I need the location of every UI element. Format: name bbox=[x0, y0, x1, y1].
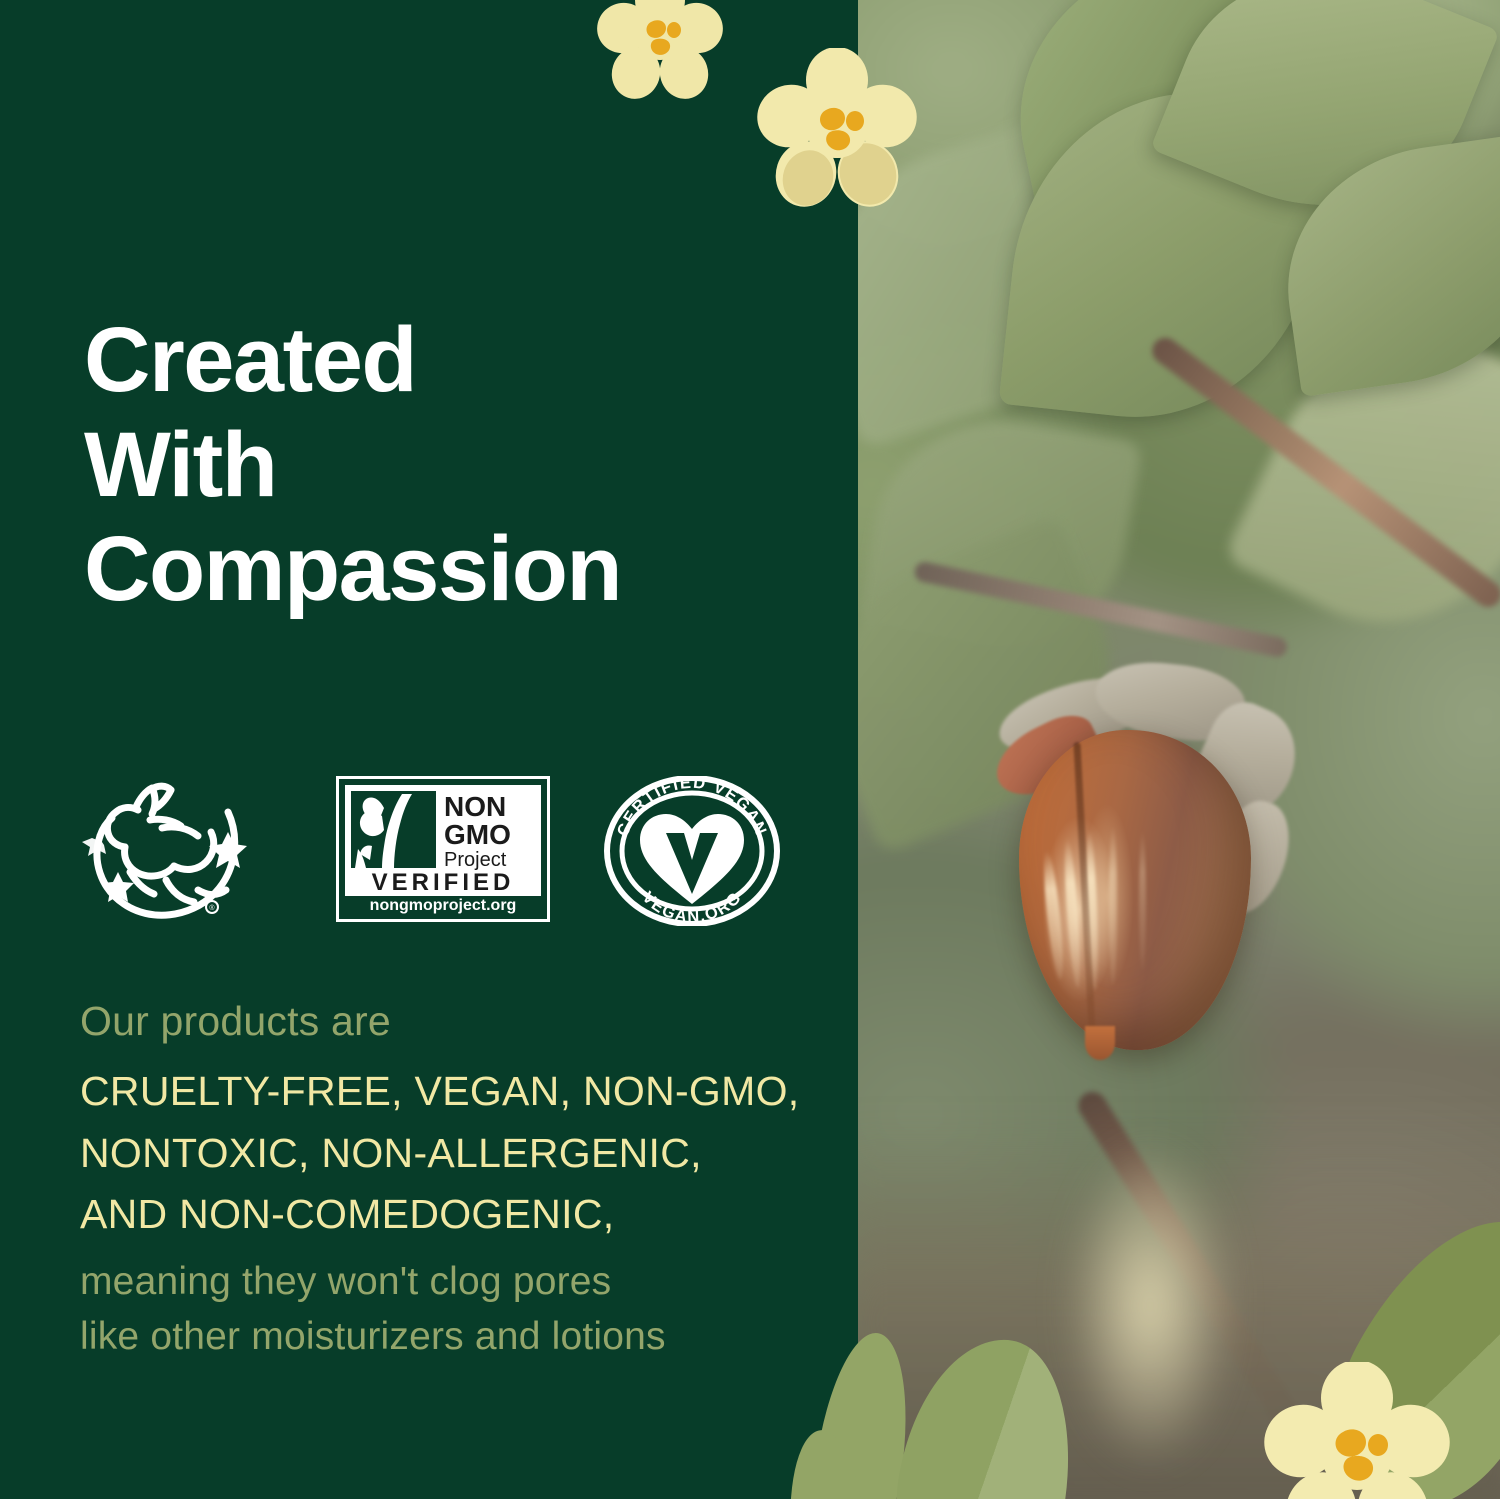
nut-highlight-5 bbox=[1139, 830, 1146, 970]
certified-vegan-badge: CERTIFIED VEGAN VEGAN.ORG bbox=[604, 776, 780, 926]
nongmo-line-2: GMO bbox=[444, 819, 511, 850]
flower-top-right bbox=[756, 48, 918, 210]
certification-badges: ® bbox=[78, 776, 798, 932]
nongmo-url: nongmoproject.org bbox=[370, 897, 517, 914]
page-title: Created With Compassion bbox=[84, 308, 621, 623]
copy-emphasis-line-2: NONTOXIC, NON-ALLERGENIC, bbox=[80, 1123, 840, 1185]
nongmo-line-1: NON bbox=[444, 791, 506, 822]
flower-top-left bbox=[596, 0, 724, 102]
registered-mark: ® bbox=[209, 904, 215, 912]
copy-lead: Our products are bbox=[80, 992, 840, 1051]
content-panel: Created With Compassion bbox=[0, 0, 858, 1499]
photo-light-streak bbox=[1065, 1140, 1235, 1470]
nut-highlight-4 bbox=[1109, 825, 1117, 985]
headline-line-2: With bbox=[84, 413, 621, 518]
nongmo-line-3: Project bbox=[444, 849, 507, 871]
nut-tip bbox=[1085, 1026, 1115, 1060]
product-photo bbox=[855, 0, 1500, 1499]
copy-emphasis-line-3: AND NON-COMEDOGENIC, bbox=[80, 1184, 840, 1246]
copy-emphasis-line-1: CRUELTY-FREE, VEGAN, NON-GMO, bbox=[80, 1061, 840, 1123]
copy-emphasis: CRUELTY-FREE, VEGAN, NON-GMO, NONTOXIC, … bbox=[80, 1061, 840, 1246]
copy-tail-line-2: like other moisturizers and lotions bbox=[80, 1309, 840, 1364]
nongmo-verified: VERIFIED bbox=[372, 869, 515, 896]
copy-tail: meaning they won't clog pores like other… bbox=[80, 1254, 840, 1365]
copy-tail-line-1: meaning they won't clog pores bbox=[80, 1254, 840, 1309]
headline-line-1: Created bbox=[84, 308, 621, 413]
nut-seed bbox=[1019, 730, 1251, 1050]
nut-highlight-1 bbox=[1040, 850, 1067, 981]
non-gmo-badge: NON GMO Project VERIFIED nongmoproject.o… bbox=[336, 776, 550, 922]
body-copy: Our products are CRUELTY-FREE, VEGAN, NO… bbox=[80, 992, 840, 1364]
marketing-banner: Created With Compassion bbox=[0, 0, 1500, 1499]
headline-line-3: Compassion bbox=[84, 517, 621, 622]
jojoba-nut bbox=[1005, 690, 1305, 1060]
cruelty-free-badge: ® bbox=[78, 776, 250, 926]
flower-bottom-right bbox=[1262, 1362, 1452, 1499]
